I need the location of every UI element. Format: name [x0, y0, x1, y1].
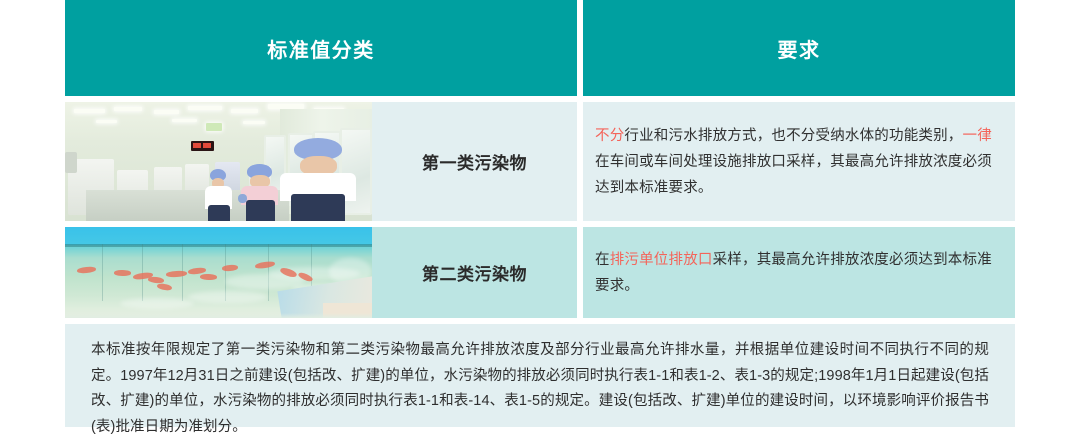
row1-req-part-2: 一律: [963, 128, 992, 144]
fish-pool-photo: [65, 227, 372, 318]
row1-req-part-0: 不分: [595, 128, 624, 144]
row2-req-part-1: 排污单位排放口: [610, 252, 713, 268]
table-header-row: 标准值分类 要求: [65, 0, 1015, 96]
row2-category-label: 第二类污染物: [372, 227, 577, 318]
row2-classification-cell: 第二类污染物: [65, 227, 577, 318]
row1-requirement-cell: 不分行业和污水排放方式，也不分受纳水体的功能类别，一律在车间或车间处理设施排放口…: [583, 102, 1015, 221]
table-header-cell-classification: 标准值分类: [65, 0, 577, 96]
row1-category-label: 第一类污染物: [372, 102, 577, 221]
table-row: 第二类污染物 在排污单位排放口采样，其最高允许排放浓度必须达到本标准要求。: [65, 227, 1015, 318]
standard-classification-table-page: 标准值分类 要求: [0, 0, 1080, 427]
footer-note-panel: 本标准按年限规定了第一类污染物和第二类污染物最高允许排放浓度及部分行业最高允许排…: [65, 324, 1015, 427]
row1-req-part-1: 行业和污水排放方式，也不分受纳水体的功能类别，: [624, 128, 962, 144]
table-header-label-classification: 标准值分类: [267, 34, 375, 63]
table-header-cell-requirement: 要求: [583, 0, 1015, 96]
table-row: 第一类污染物 不分行业和污水排放方式，也不分受纳水体的功能类别，一律在车间或车间…: [65, 102, 1015, 221]
row1-classification-cell: 第一类污染物: [65, 102, 577, 221]
pollutant-standard-table: 标准值分类 要求: [65, 0, 1015, 318]
row1-requirement-text: 不分行业和污水排放方式，也不分受纳水体的功能类别，一律在车间或车间处理设施排放口…: [595, 123, 997, 201]
footer-note-text: 本标准按年限规定了第一类污染物和第二类污染物最高允许排放浓度及部分行业最高允许排…: [91, 338, 989, 440]
cleanroom-factory-photo: [65, 102, 372, 221]
table-header-label-requirement: 要求: [778, 34, 821, 63]
row2-req-part-0: 在: [595, 252, 610, 268]
row1-req-part-3: 在车间或车间处理设施排放口采样，其最高允许排放浓度必须达到本标准要求。: [595, 154, 992, 196]
row2-requirement-cell: 在排污单位排放口采样，其最高允许排放浓度必须达到本标准要求。: [583, 227, 1015, 318]
row2-requirement-text: 在排污单位排放口采样，其最高允许排放浓度必须达到本标准要求。: [595, 247, 997, 299]
